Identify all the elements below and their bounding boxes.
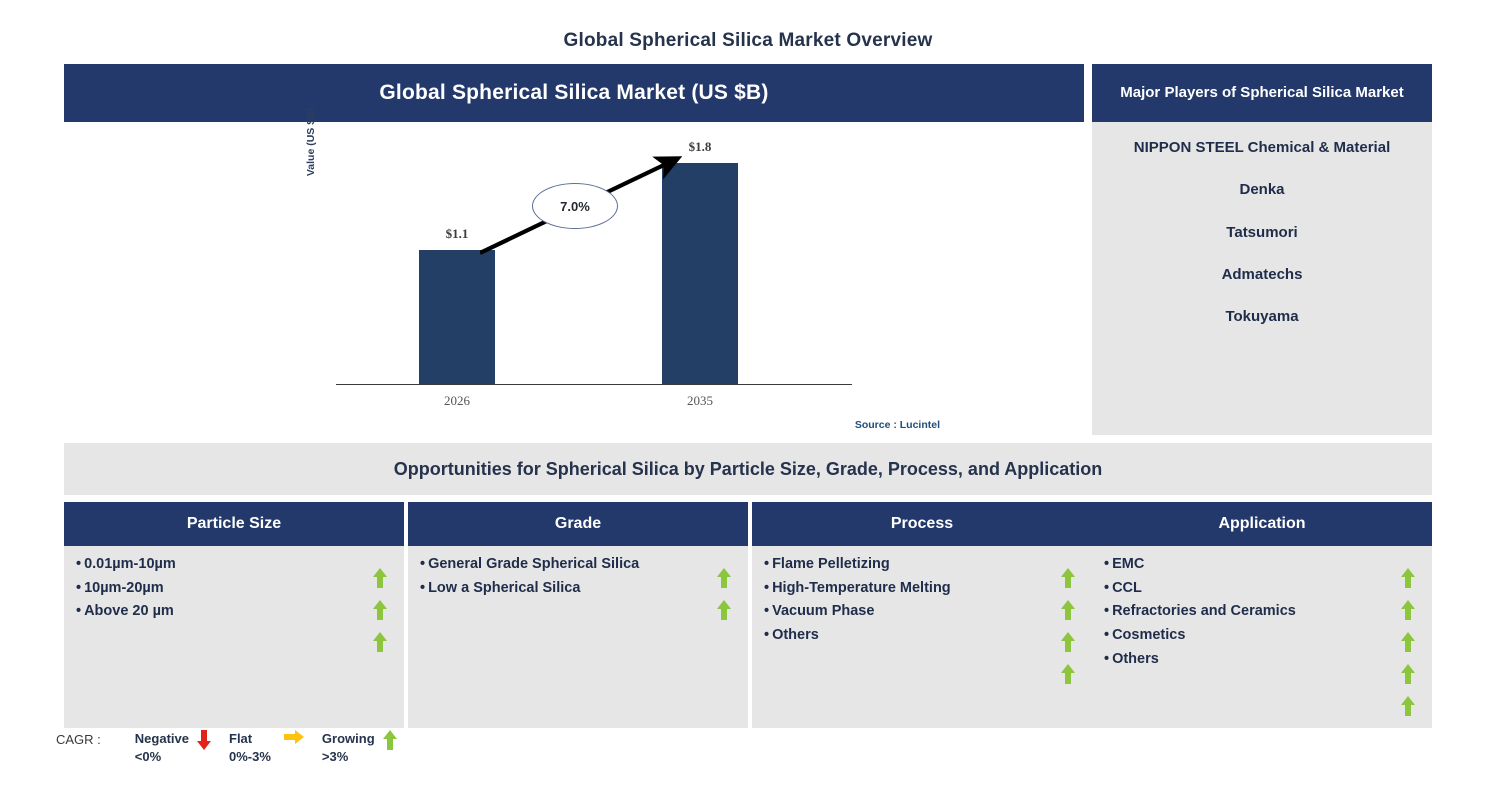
bullet-icon: • (76, 603, 81, 619)
category-arrow-slot (714, 588, 734, 620)
cagr-value-label: 7.0% (560, 199, 590, 214)
category-list-item: •High-Temperature Melting (752, 580, 1092, 597)
category-list-item-label: Vacuum Phase (772, 603, 874, 619)
arrow-up-icon (717, 600, 731, 609)
category-arrow-column (370, 556, 390, 652)
arrow-up-icon (383, 730, 397, 739)
major-player-item: Admatechs (1092, 265, 1432, 285)
category-list-item: •Others (752, 627, 1092, 644)
arrow-up-icon (1401, 696, 1415, 705)
arrow-up-icon (1401, 568, 1415, 577)
category-header: Application (1092, 502, 1432, 546)
chart-x-axis-line (336, 384, 852, 385)
bullet-icon: • (1104, 651, 1109, 667)
category-list-item: •General Grade Spherical Silica (408, 556, 748, 573)
bullet-icon: • (76, 556, 81, 572)
cagr-legend-entry-name: Negative (135, 730, 189, 748)
chart-x-tick-2035: 2035 (655, 393, 745, 409)
category-column-grade: Grade•General Grade Spherical Silica•Low… (408, 502, 748, 728)
cagr-legend-entry-text: Negative<0% (135, 730, 189, 765)
bullet-icon: • (1104, 603, 1109, 619)
category-list-item: •Refractories and Ceramics (1092, 603, 1432, 620)
cagr-legend-entry-range: >3% (322, 748, 375, 766)
category-body: •EMC•CCL•Refractories and Ceramics•Cosme… (1092, 546, 1432, 728)
category-header-label: Particle Size (187, 515, 281, 533)
cagr-legend-entry: Negative<0% (135, 730, 219, 765)
major-player-item: Denka (1092, 180, 1432, 200)
category-arrow-slot (714, 556, 734, 588)
chart-panel-title: Global Spherical Silica Market (US $B) (379, 81, 768, 105)
category-arrow-slot (1398, 588, 1418, 620)
major-players-header: Major Players of Spherical Silica Market (1092, 64, 1432, 122)
category-header: Particle Size (64, 502, 404, 546)
category-list-item: •Low a Spherical Silica (408, 580, 748, 597)
category-list-item-label: Others (1112, 651, 1159, 667)
major-player-item: Tatsumori (1092, 223, 1432, 243)
category-arrow-column (1398, 556, 1418, 716)
bullet-icon: • (764, 603, 769, 619)
category-list-item: •Vacuum Phase (752, 603, 1092, 620)
opportunities-banner: Opportunities for Spherical Silica by Pa… (64, 443, 1432, 495)
arrow-up-icon (1061, 600, 1075, 609)
category-list-item: •Others (1092, 651, 1432, 668)
category-list-item-label: Refractories and Ceramics (1112, 603, 1296, 619)
cagr-legend-label: CAGR : (56, 730, 101, 747)
category-list-item: •EMC (1092, 556, 1432, 573)
category-list-item-label: CCL (1112, 580, 1142, 596)
category-arrow-column (1058, 556, 1078, 684)
category-column-process: Process•Flame Pelletizing•High-Temperatu… (752, 502, 1092, 728)
category-header-label: Grade (555, 515, 601, 533)
category-arrow-slot (370, 588, 390, 620)
bullet-icon: • (420, 556, 425, 572)
category-list-item-label: 10µm-20µm (84, 580, 164, 596)
category-arrow-slot (1398, 684, 1418, 716)
bullet-icon: • (1104, 627, 1109, 643)
arrow-up-icon (1401, 600, 1415, 609)
bullet-icon: • (764, 580, 769, 596)
cagr-legend-entry-name: Flat (229, 730, 271, 748)
arrow-up-icon (1061, 632, 1075, 641)
bullet-icon: • (420, 580, 425, 596)
cagr-legend-entry: Flat0%-3% (229, 730, 312, 765)
category-arrow-slot (1398, 620, 1418, 652)
bullet-icon: • (1104, 556, 1109, 572)
category-arrow-slot (370, 556, 390, 588)
category-list-item-label: High-Temperature Melting (772, 580, 951, 596)
category-header: Grade (408, 502, 748, 546)
category-arrow-slot (370, 620, 390, 652)
category-list-item: •Flame Pelletizing (752, 556, 1092, 573)
category-list-item: •Above 20 µm (64, 603, 404, 620)
cagr-legend-entry-range: <0% (135, 748, 189, 766)
cagr-legend-entry-icon (383, 730, 397, 739)
category-list-item: •10µm-20µm (64, 580, 404, 597)
cagr-legend-entry-range: 0%-3% (229, 748, 271, 766)
arrow-up-icon (1401, 632, 1415, 641)
category-list-item-label: EMC (1112, 556, 1144, 572)
category-list-item-label: Flame Pelletizing (772, 556, 890, 572)
cagr-legend-entry-icon (279, 730, 304, 744)
bullet-icon: • (76, 580, 81, 596)
category-arrow-slot (1398, 556, 1418, 588)
major-player-item: Tokuyama (1092, 307, 1432, 327)
chart-y-axis-label: Value (US $B) (305, 82, 321, 202)
category-list-item: •0.01µm-10µm (64, 556, 404, 573)
bullet-icon: • (1104, 580, 1109, 596)
category-column-particle-size: Particle Size•0.01µm-10µm•10µm-20µm•Abov… (64, 502, 404, 728)
arrow-right-icon (295, 730, 304, 744)
cagr-legend: CAGR : Negative<0%Flat0%-3%Growing>3% (56, 730, 415, 776)
category-list-item-label: General Grade Spherical Silica (428, 556, 639, 572)
category-body: •0.01µm-10µm•10µm-20µm•Above 20 µm (64, 546, 404, 728)
arrow-down-icon (197, 741, 211, 750)
major-player-item: NIPPON STEEL Chemical & Material (1092, 138, 1432, 158)
opportunities-banner-title: Opportunities for Spherical Silica by Pa… (394, 459, 1103, 480)
major-players-title: Major Players of Spherical Silica Market (1110, 83, 1413, 103)
cagr-bubble: 7.0% (532, 183, 618, 229)
arrow-up-icon (373, 600, 387, 609)
cagr-legend-entry-text: Growing>3% (322, 730, 375, 765)
category-arrow-slot (1058, 588, 1078, 620)
category-list-item-label: Cosmetics (1112, 627, 1185, 643)
page-title: Global Spherical Silica Market Overview (0, 30, 1496, 52)
category-header-label: Process (891, 515, 953, 533)
category-arrow-slot (1058, 652, 1078, 684)
cagr-legend-entry-text: Flat0%-3% (229, 730, 271, 765)
arrow-up-icon (373, 568, 387, 577)
category-column-application: Application•EMC•CCL•Refractories and Cer… (1092, 502, 1432, 728)
category-body: •General Grade Spherical Silica•Low a Sp… (408, 546, 748, 728)
chart-bar-2026 (419, 250, 495, 384)
category-header: Process (752, 502, 1092, 546)
category-list-item-label: Others (772, 627, 819, 643)
category-arrow-slot (1398, 652, 1418, 684)
cagr-legend-entry: Growing>3% (322, 730, 405, 765)
bullet-icon: • (764, 627, 769, 643)
bullet-icon: • (764, 556, 769, 572)
major-players-list: NIPPON STEEL Chemical & MaterialDenkaTat… (1092, 122, 1432, 435)
category-list-item: •CCL (1092, 580, 1432, 597)
category-body: •Flame Pelletizing•High-Temperature Melt… (752, 546, 1092, 728)
chart-x-tick-2026: 2026 (412, 393, 502, 409)
category-list-item-label: 0.01µm-10µm (84, 556, 176, 572)
category-list-item-label: Low a Spherical Silica (428, 580, 580, 596)
cagr-legend-entry-name: Growing (322, 730, 375, 748)
category-list-item-label: Above 20 µm (84, 603, 174, 619)
category-arrow-slot (1058, 620, 1078, 652)
category-list-item: •Cosmetics (1092, 627, 1432, 644)
category-arrow-column (714, 556, 734, 620)
cagr-legend-entry-icon (197, 730, 211, 750)
category-header-label: Application (1218, 515, 1305, 533)
arrow-up-icon (1401, 664, 1415, 673)
chart-source-note: Source : Lucintel (760, 419, 940, 431)
arrow-up-icon (1061, 664, 1075, 673)
arrow-up-icon (1061, 568, 1075, 577)
arrow-up-icon (373, 632, 387, 641)
arrow-up-icon (717, 568, 731, 577)
category-arrow-slot (1058, 556, 1078, 588)
chart-panel-header: Global Spherical Silica Market (US $B) (64, 64, 1084, 122)
